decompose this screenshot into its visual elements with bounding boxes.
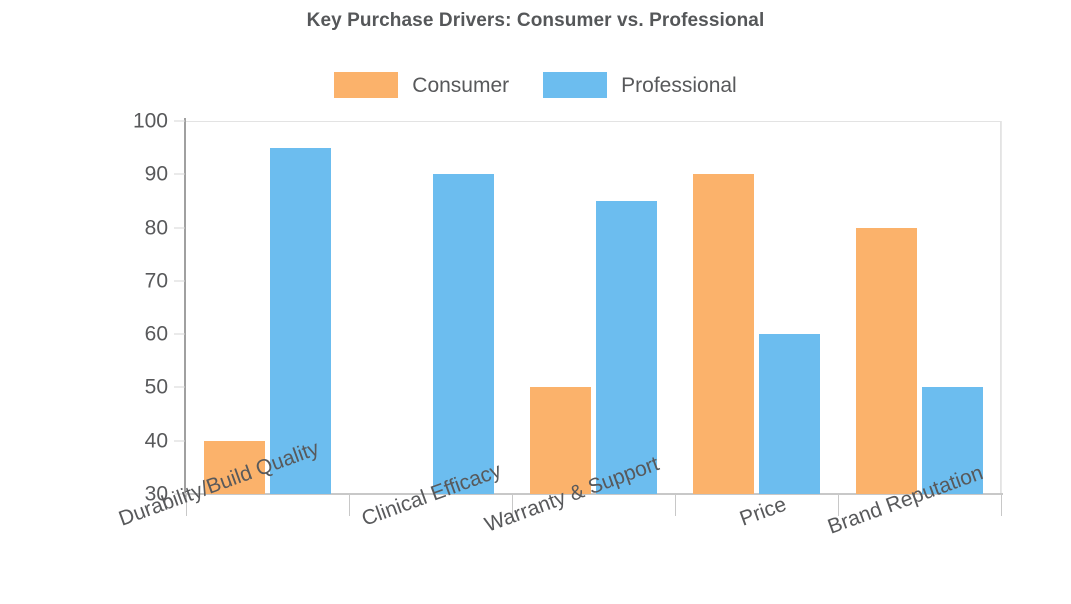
- y-tick-label: 90: [108, 164, 168, 185]
- bar-consumer[interactable]: [693, 174, 754, 494]
- y-tick-label: 40: [108, 430, 168, 451]
- bar-consumer[interactable]: [856, 228, 917, 494]
- vertical-gridline: [1001, 121, 1002, 494]
- y-tick-mark: [174, 334, 185, 335]
- y-tick-mark: [174, 227, 185, 228]
- y-tick-label: 60: [108, 324, 168, 345]
- legend-label-consumer: Consumer: [412, 75, 509, 96]
- y-tick-mark: [174, 174, 185, 175]
- legend-swatch-consumer: [334, 72, 398, 98]
- category-separator: [675, 494, 676, 516]
- y-tick-label: 50: [108, 377, 168, 398]
- chart-title: Key Purchase Drivers: Consumer vs. Profe…: [0, 10, 1071, 32]
- y-tick-label: 80: [108, 217, 168, 238]
- bar-professional[interactable]: [759, 334, 820, 494]
- legend-swatch-professional: [543, 72, 607, 98]
- y-tick-mark: [174, 280, 185, 281]
- legend-item-professional[interactable]: Professional: [543, 72, 737, 98]
- x-axis-label: Price: [737, 494, 789, 530]
- y-tick-label: 70: [108, 270, 168, 291]
- chart-legend: Consumer Professional: [0, 72, 1071, 98]
- y-tick-label: 100: [108, 111, 168, 132]
- bar-professional[interactable]: [596, 201, 657, 494]
- legend-item-consumer[interactable]: Consumer: [334, 72, 509, 98]
- bar-professional[interactable]: [433, 174, 494, 494]
- bar-chart: Key Purchase Drivers: Consumer vs. Profe…: [0, 0, 1071, 604]
- category-separator: [349, 494, 350, 516]
- legend-label-professional: Professional: [621, 75, 737, 96]
- y-tick-mark: [174, 121, 185, 122]
- y-tick-mark: [174, 387, 185, 388]
- y-tick-mark: [174, 440, 185, 441]
- category-separator: [1001, 494, 1002, 516]
